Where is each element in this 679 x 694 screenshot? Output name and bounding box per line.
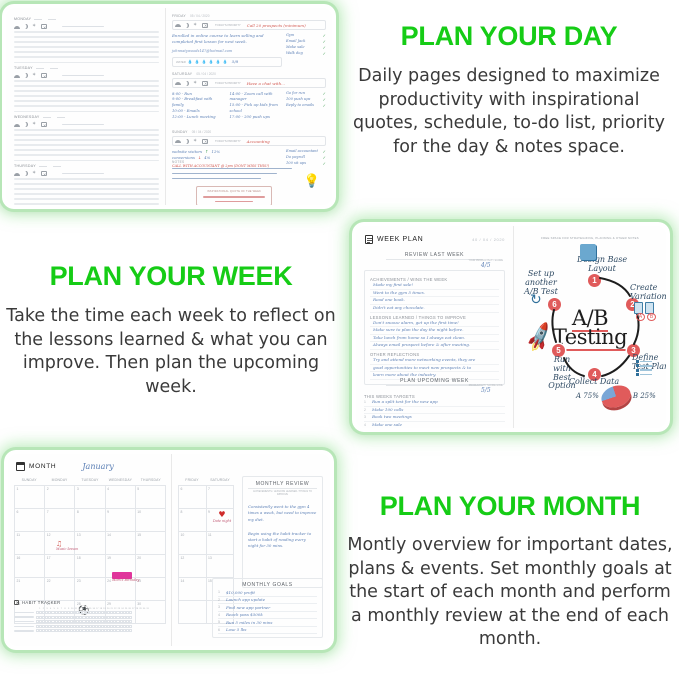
habit-cell[interactable] (129, 620, 132, 623)
heart-icon: ♥ (210, 510, 234, 519)
goal-item[interactable]: 6Lose 5 lbs (218, 627, 317, 635)
variation-label-B: B (647, 313, 656, 321)
checkbox-icon (41, 122, 47, 127)
writing-line (14, 188, 159, 190)
day-number: 22 (47, 579, 51, 583)
week-date: 40 / 04 / 2020 (472, 237, 505, 242)
productivity-score: YOUR PRODUCTIVITY SCORE4/5 (469, 259, 504, 269)
todo-column: Gym✓Email Jack✓Make sale✓Walk dog✓ (286, 33, 326, 67)
habit-cell[interactable] (129, 616, 132, 619)
month-cell[interactable]: 15 (136, 532, 166, 555)
todo-item: Reply to emails✓ (286, 103, 326, 109)
checklist-box (636, 373, 639, 376)
day-email: johnnatywoods147@hotmail.com (172, 49, 282, 53)
month-cell[interactable]: 12 (179, 555, 207, 578)
todo-label: Go for run (286, 91, 305, 97)
review-box: ACHIEVEMENTS / WINS THE WEEKMade my firs… (364, 270, 505, 385)
daily-planner-photo: MONDAY✶TUESDAY✶WEDNESDAY✶THURSDAY✶ FRIDA… (2, 4, 336, 209)
day-number: 23 (77, 579, 81, 583)
habit-cell[interactable] (129, 629, 132, 632)
quote-line (203, 196, 264, 198)
event-text: Mom's Birthday (112, 579, 140, 583)
notes-line (172, 168, 292, 170)
goals-header: MONTHLY GOALS (218, 582, 317, 588)
notes-line (172, 178, 261, 180)
month-cell[interactable]: 7 (45, 509, 75, 532)
day-number: 14 (107, 533, 111, 537)
checklist-box (636, 360, 639, 363)
star-icon: ✶ (193, 23, 199, 28)
habit-name-field (14, 626, 34, 628)
collect-data-pie: A 75%B 25% (576, 386, 656, 407)
cloud-icon (14, 73, 20, 78)
monthly-goals-box: MONTHLY GOALS1$10,000 profit2Launch app … (212, 578, 323, 638)
panel-day-heading: PLAN YOUR DAY (344, 22, 674, 50)
quote-box: INSPIRATIONAL QUOTE OF THE WEEK (196, 186, 272, 205)
handwritten-line: Try and attend more networking events, t… (370, 357, 499, 365)
day-label: WEDNESDAY (14, 115, 40, 119)
goal-item[interactable]: 1$10,000 profit (218, 589, 317, 597)
writing-line (14, 100, 159, 102)
day-icon-row: ✶ (14, 24, 159, 29)
target-item: 2Make 100 calls (364, 407, 505, 415)
goal-text: Run 5 miles in 30 mins (226, 620, 272, 625)
writing-line (14, 85, 159, 87)
metric-value: 12% (212, 149, 220, 155)
day-number: 24 (107, 579, 111, 583)
day-block: TUESDAY✶ (14, 65, 159, 116)
water-row: WATER💧💧💧💧💧💧5/8 (172, 57, 282, 67)
month-cell[interactable]: 14 (179, 578, 207, 601)
date-slot (34, 19, 42, 20)
habit-cells (36, 616, 132, 619)
star-icon: ✶ (32, 171, 38, 176)
habit-row[interactable] (14, 620, 166, 623)
handwritten-line: Went to the gym 5 times. (370, 290, 499, 298)
moon-icon (184, 23, 190, 28)
day-header: THURSDAY (14, 163, 159, 169)
notebook-icon (365, 235, 373, 244)
cloud-icon (14, 171, 20, 176)
weekday-header-row: FRIDAYSATURDAY (178, 478, 234, 482)
moon-icon (23, 24, 29, 29)
month-cell[interactable]: 20 (136, 555, 166, 578)
month-cell[interactable]: 11 (15, 532, 45, 555)
daily-right-page: FRIDAY05 / 04 / 2020✶TODAY'S PRIORITYCal… (166, 8, 332, 205)
panel-day-body: Daily pages designed to maximize product… (344, 65, 674, 159)
score-value: 4/5 (469, 262, 504, 269)
day-header: TUESDAY (14, 65, 159, 71)
priority-label: TODAY'S PRIORITY (215, 81, 241, 85)
month-cell[interactable]: 2 (45, 486, 75, 509)
moon-icon (23, 171, 29, 176)
weekday-header: WEDNESDAY (105, 478, 135, 482)
week-plan-title: WEEK PLAN (377, 236, 423, 243)
todo-label: Walk dog (286, 51, 303, 57)
day-notes: Enrolled in online course to learn selli… (172, 33, 282, 45)
target-number: 3 (364, 415, 368, 420)
day-block: WEDNESDAY✶ (14, 114, 159, 165)
month-cell[interactable]: 18 (75, 555, 105, 578)
writing-line (14, 139, 159, 141)
month-cell[interactable]: 7 (207, 486, 235, 509)
target-number: 1 (364, 400, 368, 405)
habit-name-field (14, 616, 34, 618)
water-count: 5/8 (232, 59, 238, 64)
weekday-header: SATURDAY (206, 478, 234, 482)
schedule-column: 8:00 - Run9:00 - Breakfast with family10… (172, 91, 225, 120)
product-feature-sheet: MONDAY✶TUESDAY✶WEDNESDAY✶THURSDAY✶ FRIDA… (0, 0, 679, 694)
day-label: FRIDAY (172, 14, 186, 18)
panel-month-body: Montly overview for important dates, pla… (344, 534, 676, 651)
day-date-fields (36, 68, 159, 69)
priority-value: Have a chat with... (247, 81, 285, 86)
checklist-row (636, 369, 652, 372)
habit-row[interactable] (14, 625, 166, 628)
day-entry-header: SUNDAY05 / 04 / 2020 (172, 130, 326, 134)
metric-name: website visitors (172, 149, 202, 155)
day-number: 31 (146, 608, 150, 610)
writing-line (14, 105, 159, 107)
todo-label: Gym (286, 33, 294, 39)
goal-text: Find new app partner (226, 605, 270, 610)
notes-label: NOTES (172, 160, 326, 164)
weekday-header-row: SUNDAYMONDAYTUESDAYWEDNESDAYTHURSDAY (14, 478, 166, 482)
variation-card-B: B (645, 302, 654, 314)
quote-line (215, 201, 252, 203)
day-number: 13 (208, 556, 212, 560)
day-number: 15 (137, 533, 141, 537)
writing-line (14, 144, 159, 146)
date-slot (53, 166, 61, 167)
day-writing-lines (14, 129, 159, 161)
schedule-item: 17:00 - 200 push ups (230, 114, 283, 120)
writing-line (14, 90, 159, 92)
month-cell[interactable]: 22 (45, 578, 75, 601)
panel-week-body: Take the time each week to reflect on th… (4, 305, 338, 399)
habit-cells (36, 620, 132, 623)
date-slot (39, 166, 47, 167)
priority-label: TODAY'S PRIORITY (215, 23, 241, 27)
day-icon-row: ✶ (14, 73, 159, 78)
checklist-box (636, 369, 639, 372)
writing-line (14, 203, 159, 205)
checklist-row (636, 360, 652, 363)
habit-check-icon: ✕ (14, 600, 19, 605)
writing-line (14, 198, 159, 200)
month-name: January (82, 462, 113, 471)
goal-item[interactable]: 2Launch app update (218, 597, 317, 605)
day-block: THURSDAY✶ (14, 163, 159, 205)
priority-label: TODAY'S PRIORITY (215, 139, 241, 143)
goal-item[interactable]: 5Run 5 miles in 30 mins (218, 619, 317, 627)
pie-label-b: B 25% (633, 393, 656, 401)
todo-label: Email accountant (286, 149, 318, 155)
day-icon-row: ✶ (14, 171, 159, 176)
day-number: 18 (77, 556, 81, 560)
goal-number: 1 (218, 590, 223, 594)
day-entry-header: SATURDAY05 / 04 / 2020 (172, 72, 326, 76)
schedule-column: 14:00 - Zoom call with manager15:00 - Pi… (230, 91, 283, 120)
target-item: 3Book two meetings (364, 414, 505, 422)
month-cell[interactable]: 16 (15, 555, 45, 578)
day-number: 12 (47, 533, 51, 537)
month-cell[interactable]: 6 (179, 486, 207, 509)
writing-line (14, 129, 159, 131)
priority-row: ✶TODAY'S PRIORITYAccounting (172, 136, 326, 146)
water-drop-icon: 💧 (209, 59, 214, 64)
writing-line (14, 193, 159, 195)
date-slot (57, 117, 65, 118)
day-number: 11 (208, 533, 212, 537)
target-number: 4 (364, 423, 368, 428)
habit-row[interactable] (14, 611, 166, 614)
review-paragraph: Begin using the habit tracker to start a… (248, 531, 317, 550)
writing-line (14, 31, 159, 33)
month-cell[interactable]: 10 (136, 509, 166, 532)
checkbox-icon (202, 23, 208, 28)
day-writing-lines (14, 178, 159, 205)
day-writing-lines (14, 31, 159, 63)
checklist-line (640, 361, 652, 363)
goal-number: 5 (218, 620, 223, 624)
targets-box: THIS WEEKS TARGETS1Run a split test for … (364, 394, 505, 428)
target-text: Run a split test for the new app (372, 399, 438, 406)
day-number: 12 (181, 556, 185, 560)
day-label: MONDAY (14, 17, 31, 21)
weekday-header: MONDAY (44, 478, 74, 482)
target-text: Book two meetings (372, 414, 412, 421)
schedule-item: 15:00 - Pick up kids from school (230, 102, 283, 114)
event-moms-birthday: Mom's Birthday (112, 572, 140, 583)
day-number: 6 (181, 487, 183, 491)
date-slot (48, 19, 56, 20)
month-cell[interactable]: 21 (15, 578, 45, 601)
checkbox-icon (41, 73, 47, 78)
day-number: 14 (181, 579, 185, 583)
checkbox-icon (202, 81, 208, 86)
day-block: MONDAY✶ (14, 16, 159, 67)
lightbulb-icon: 💡 (304, 174, 320, 189)
day-date-fields (39, 166, 159, 167)
event-music-lesson: ♫Music lesson (56, 540, 82, 552)
habit-cell[interactable] (129, 611, 132, 614)
habit-day-numbers: 1234567891011121314151617181920212223242… (38, 608, 166, 610)
star-icon: ✶ (193, 139, 199, 144)
month-cell[interactable]: 1 (15, 486, 45, 509)
goal-item[interactable]: 3Find new app partner (218, 604, 317, 612)
habit-name-field (14, 612, 34, 614)
writing-line (14, 62, 159, 64)
day-number: 3 (77, 487, 79, 491)
variation-cards: AB (634, 302, 654, 314)
checklist-line (640, 374, 652, 376)
habit-row[interactable] (14, 616, 166, 619)
writing-line (14, 160, 159, 162)
test-plan-icon (636, 360, 652, 378)
step-label-1: Design Base Layout (562, 256, 642, 274)
day-number: 13 (77, 533, 81, 537)
goal-text: Lose 5 lbs (226, 627, 246, 632)
month-cell[interactable]: 6 (15, 509, 45, 532)
day-number: 20 (137, 556, 141, 560)
schedule-item: 9:00 - Breakfast with family (172, 96, 225, 108)
month-title: MONTH (29, 463, 56, 470)
habit-cell[interactable] (129, 625, 132, 628)
todo-label: 100 push ups (286, 97, 310, 103)
todo-item: Walk dog✓ (286, 51, 326, 57)
priority-row: ✶TODAY'S PRIORITYHave a chat with... (172, 78, 326, 88)
writing-line (14, 95, 159, 97)
todo-label: Email Jack (286, 39, 305, 45)
calendar-icon (16, 462, 25, 471)
month-cell[interactable]: 25 (136, 578, 166, 601)
habit-name-field (14, 630, 34, 632)
moon-icon (23, 73, 29, 78)
day-date: 05 / 04 / 2020 (190, 14, 210, 18)
panel-month-heading: PLAN YOUR MONTH (344, 492, 676, 520)
schedule: 8:00 - Run9:00 - Breakfast with family10… (172, 91, 282, 120)
pie-chart (598, 382, 633, 411)
month-cell[interactable]: 10 (179, 532, 207, 555)
day-number: 11 (17, 533, 21, 537)
day-date: 05 / 04 / 2020 (196, 72, 216, 76)
writing-line (14, 80, 159, 82)
month-cell[interactable]: 5 (136, 486, 166, 509)
goal-text: Reach pass $500k (226, 612, 263, 617)
day-number: 21 (17, 579, 21, 583)
day-date-fields (34, 19, 159, 20)
priority-field (62, 173, 104, 175)
month-cell[interactable]: 9 (106, 509, 136, 532)
priority-field (62, 124, 104, 126)
habit-cells (36, 629, 132, 632)
moon-icon (184, 139, 190, 144)
date-slot (43, 117, 51, 118)
habit-tracker-label: HABIT TRACKER (22, 600, 61, 605)
water-drop-icon: 💧 (188, 59, 193, 64)
day-label: SUNDAY (172, 130, 188, 134)
month-cell[interactable]: 4 (106, 486, 136, 509)
cloud-icon (14, 24, 20, 29)
star-icon: ✶ (32, 122, 38, 127)
writing-line (14, 178, 159, 180)
writing-line (14, 51, 159, 53)
checklist-box (636, 364, 639, 367)
day-label: TUESDAY (14, 66, 33, 70)
priority-value: Call 20 prospects (minimum) (247, 23, 306, 28)
star-icon: ✶ (32, 73, 38, 78)
writing-line (14, 183, 159, 185)
month-cell[interactable]: 14 (106, 532, 136, 555)
day-date: 05 / 04 / 2020 (192, 130, 212, 134)
goal-number: 4 (218, 613, 223, 617)
star-icon: ✶ (32, 24, 38, 29)
month-header: MONTHJanuary (16, 462, 114, 471)
day-number: 10 (137, 510, 141, 514)
goal-item[interactable]: 4Reach pass $500k (218, 612, 317, 620)
cloud-icon (175, 23, 181, 28)
day-entry-main: Enrolled in online course to learn selli… (172, 33, 282, 67)
day-number: 19 (107, 556, 111, 560)
month-right-page: FRIDAYSATURDAY6789101112131415♥Date nigh… (172, 454, 330, 646)
month-cell[interactable]: 8 (75, 509, 105, 532)
day-entry-body: Enrolled in online course to learn selli… (172, 33, 326, 67)
target-item: 4Make one sale (364, 422, 505, 428)
handwritten-line: Made my first sale! (370, 282, 499, 290)
check-icon: ✓ (323, 51, 326, 57)
handwritten-line: Read one book. (370, 297, 499, 305)
day-entry-main: 8:00 - Run9:00 - Breakfast with family10… (172, 91, 282, 120)
day-number: 10 (181, 533, 185, 537)
day-entry: FRIDAY05 / 04 / 2020✶TODAY'S PRIORITYCal… (172, 14, 326, 67)
writing-line (14, 134, 159, 136)
day-number: 7 (208, 487, 210, 491)
week-plan-header: WEEK PLAN40 / 04 / 2020 (365, 235, 505, 244)
day-number: 6 (17, 510, 19, 514)
day-number: 17 (47, 556, 51, 560)
target-text: Make one sale (372, 422, 402, 428)
date-slot (50, 68, 58, 69)
handwritten-line: Take lunch from home so I always eat cle… (370, 335, 499, 343)
month-cell[interactable] (179, 601, 207, 624)
handwritten-line: Make sure to plan the day the night befo… (370, 327, 499, 335)
target-text: Make 100 calls (372, 407, 403, 414)
weekday-header: FRIDAY (178, 478, 206, 482)
design-doc-icon (580, 244, 596, 260)
week-left-page: WEEK PLAN40 / 04 / 2020REVIEW LAST WEEKY… (356, 226, 514, 428)
priority-value: Accounting (247, 139, 270, 144)
schedule-item: 14:00 - Zoom call with manager (230, 91, 283, 103)
day-number: 16 (17, 556, 21, 560)
goal-number: 3 (218, 605, 223, 609)
day-number: 4 (107, 487, 109, 491)
cloud-icon (14, 122, 20, 127)
month-cell[interactable]: 13 (207, 555, 235, 578)
habit-name-field (14, 621, 34, 623)
writing-line (14, 36, 159, 38)
habit-row[interactable] (14, 629, 166, 632)
day-label: THURSDAY (14, 164, 36, 168)
moon-icon (184, 81, 190, 86)
week-right-page: FREE SPACE FOR STRATEGIZING, PLANNING & … (514, 226, 666, 428)
score-value: 5/5 (469, 387, 503, 394)
date-slot (36, 68, 44, 69)
water-label: WATER (176, 60, 186, 64)
priority-field (62, 75, 104, 77)
habit-cells (36, 611, 132, 614)
day-number: 2 (47, 487, 49, 491)
variation-card-A: A (634, 302, 643, 314)
month-cell[interactable]: 8 (179, 509, 207, 532)
month-cell[interactable]: 11 (207, 532, 235, 555)
goal-text: $10,000 profit (226, 590, 255, 595)
cloud-icon (175, 139, 181, 144)
month-cell[interactable]: 23 (75, 578, 105, 601)
month-cell[interactable]: 3 (75, 486, 105, 509)
handwritten-line: good opportunities to meet new prospects… (370, 365, 499, 373)
checkbox-icon (41, 24, 47, 29)
month-cell[interactable]: 17 (45, 555, 75, 578)
variation-label-A: A (636, 313, 645, 321)
water-drop-icon: 💧 (216, 59, 221, 64)
day-label: SATURDAY (172, 72, 192, 76)
handwritten-line: Didn't eat any chocolate. (370, 305, 499, 313)
panel-week-copy: PLAN YOUR WEEK Take the time each week t… (4, 262, 338, 399)
moon-icon (23, 122, 29, 127)
day-entry-header: FRIDAY05 / 04 / 2020 (172, 14, 326, 18)
monthly-review-box: MONTHLY REVIEWACHIEVEMENTS / LESSONS LEA… (242, 476, 323, 588)
